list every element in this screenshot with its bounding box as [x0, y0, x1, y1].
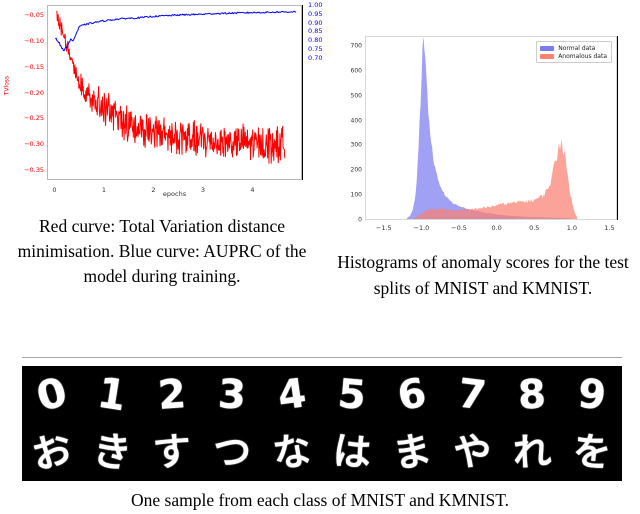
tvloss-ytick-label: −0.05	[24, 11, 44, 19]
histogram-plot-area: Normal data Anomalous data	[365, 36, 617, 220]
histogram-xtick-label: 1.5	[604, 224, 614, 232]
sample-cell-mnist-9: 9	[562, 366, 622, 424]
sample-cell-kmnist-9: を	[562, 424, 622, 482]
caption-histograms: Histograms of anomaly scores for the tes…	[330, 250, 636, 301]
sample-glyph: は	[331, 432, 372, 473]
legend-entry-anomalous: Anomalous data	[540, 52, 607, 60]
sample-glyph: 2	[157, 374, 188, 416]
sample-glyph: な	[271, 431, 314, 474]
auprc-ytick-label: 1.00	[308, 1, 322, 9]
histogram-xtick-label: −1.5	[376, 224, 392, 232]
tvloss-axis-label: TVloss	[4, 66, 11, 106]
sample-glyph: 8	[517, 374, 547, 415]
tvloss-ytick-label: −0.20	[24, 89, 44, 97]
sample-cell-mnist-1: 1	[82, 366, 142, 424]
sample-cell-kmnist-4: な	[262, 424, 322, 482]
histogram-xtick-label: 1.0	[567, 224, 577, 232]
sample-cell-kmnist-7: や	[442, 424, 502, 482]
legend-swatch-normal	[540, 46, 554, 51]
figure-page: TVloss −0.05−0.10−0.15−0.20−0.25−0.30−0.…	[0, 0, 640, 514]
sample-cell-mnist-0: 0	[22, 366, 82, 424]
sample-glyph: す	[152, 432, 193, 473]
sample-cell-mnist-7: 7	[442, 366, 502, 424]
sample-glyph: れ	[512, 432, 552, 472]
tvloss-ytick-label: −0.35	[24, 166, 44, 174]
training-curves-svg	[48, 6, 301, 179]
histogram-ytick-label: 300	[351, 142, 362, 149]
training-curves-plot-area	[47, 5, 302, 180]
sample-glyph: ま	[390, 430, 435, 475]
sample-glyph: や	[451, 431, 493, 473]
sample-cell-mnist-4: 4	[262, 366, 322, 424]
tvloss-ytick-label: −0.30	[24, 140, 44, 148]
training-curves-panel: TVloss −0.05−0.10−0.15−0.20−0.25−0.30−0.…	[0, 0, 320, 214]
histogram-xtick-label: −0.5	[451, 224, 467, 232]
sample-cell-kmnist-8: れ	[502, 424, 562, 482]
histogram-ytick-label: 600	[351, 67, 362, 74]
sample-glyph: つ	[212, 432, 252, 472]
tvloss-ytick-label: −0.15	[24, 63, 44, 71]
auprc-ytick-label: 0.95	[308, 10, 322, 18]
histogram-ytick-label: 0	[358, 217, 362, 224]
histogram-xtick-label: 0.0	[491, 224, 501, 232]
histogram-xtick-label: −1.0	[414, 224, 430, 232]
histogram-ytick-label: 100	[351, 192, 362, 199]
histogram-svg	[366, 37, 616, 219]
top-row: TVloss −0.05−0.10−0.15−0.20−0.25−0.30−0.…	[0, 0, 640, 356]
sample-glyph: 6	[395, 372, 430, 417]
sample-cell-kmnist-6: ま	[382, 424, 442, 482]
section-divider	[22, 357, 622, 358]
sample-cell-kmnist-5: は	[322, 424, 382, 482]
sample-cell-mnist-8: 8	[502, 366, 562, 424]
sample-glyph: 4	[275, 373, 308, 416]
sample-glyph: 9	[576, 373, 608, 416]
sample-cell-kmnist-3: つ	[202, 424, 262, 482]
tvloss-ytick-label: −0.25	[24, 114, 44, 122]
histogram-ytick-label: 400	[351, 117, 362, 124]
sample-cell-mnist-3: 3	[202, 366, 262, 424]
epochs-axis-label: epochs	[47, 190, 302, 198]
legend-entry-normal: Normal data	[540, 44, 607, 52]
legend-label-normal: Normal data	[558, 45, 595, 52]
sample-glyph: お	[28, 428, 77, 476]
sample-glyph: 0	[32, 371, 71, 418]
sample-glyph: き	[90, 430, 134, 475]
sample-cell-mnist-6: 6	[382, 366, 442, 424]
histogram-legend: Normal data Anomalous data	[536, 41, 612, 63]
histogram-ytick-label: 700	[351, 42, 362, 49]
sample-cell-kmnist-1: き	[82, 424, 142, 482]
right-axis-spine	[302, 5, 303, 180]
sample-cell-mnist-5: 5	[322, 366, 382, 424]
sample-cell-kmnist-0: お	[22, 424, 82, 482]
caption-training-curves: Red curve: Total Variation distance mini…	[4, 214, 320, 289]
legend-swatch-anomalous	[540, 54, 554, 59]
histogram-xtick-label: 0.5	[529, 224, 539, 232]
histogram-ytick-label: 500	[351, 92, 362, 99]
histogram-ytick-label: 200	[351, 167, 362, 174]
sample-glyph: 1	[95, 372, 129, 418]
sample-glyph: 5	[336, 374, 367, 416]
legend-label-anomalous: Anomalous data	[558, 53, 607, 60]
dataset-samples-grid: 0123456789おきすつなはまやれを	[22, 366, 622, 481]
dataset-samples-panel: 0123456789おきすつなはまやれを	[22, 366, 622, 481]
histogram-right-spine	[617, 36, 618, 220]
sample-cell-kmnist-2: す	[142, 424, 202, 482]
sample-glyph: を	[571, 431, 613, 473]
tvloss-ytick-label: −0.10	[24, 37, 44, 45]
sample-glyph: 3	[217, 374, 247, 415]
sample-cell-mnist-2: 2	[142, 366, 202, 424]
sample-glyph: 7	[456, 373, 489, 416]
caption-dataset-samples: One sample from each class of MNIST and …	[0, 488, 640, 512]
histogram-panel: Normal data Anomalous data 0100200300400…	[320, 18, 640, 232]
